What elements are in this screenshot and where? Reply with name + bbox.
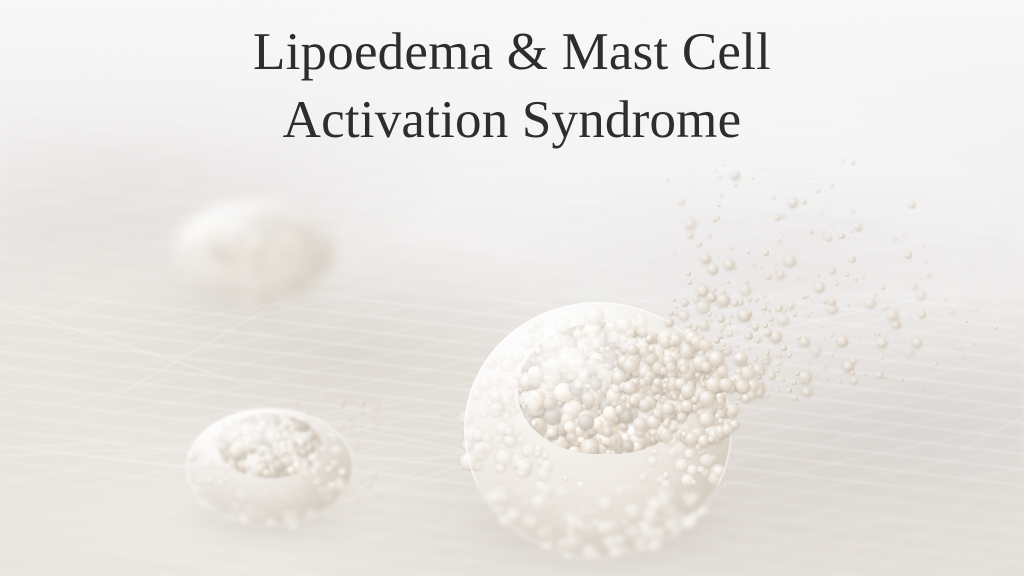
released-granule	[714, 315, 716, 317]
released-granule	[724, 259, 735, 270]
released-granule	[823, 299, 828, 304]
granule	[691, 396, 699, 404]
released-granule	[811, 258, 812, 259]
released-granule	[850, 367, 852, 369]
released-granule	[715, 304, 717, 306]
released-granule	[754, 401, 756, 403]
released-granule	[717, 295, 729, 307]
released-granule	[786, 388, 792, 394]
released-granule	[817, 274, 820, 277]
released-granule	[946, 277, 947, 278]
released-granule	[754, 297, 759, 302]
granule	[623, 359, 638, 374]
released-granule	[838, 233, 844, 239]
released-granule	[887, 310, 898, 321]
released-granule	[717, 315, 725, 323]
released-granule	[707, 234, 711, 238]
released-granule	[668, 310, 674, 316]
released-granule	[768, 372, 776, 380]
released-granule	[851, 209, 855, 213]
released-granule	[795, 229, 796, 230]
released-granule	[844, 272, 849, 277]
released-granule	[822, 326, 824, 328]
released-granule	[728, 314, 733, 319]
released-granule	[857, 345, 859, 347]
released-granule	[760, 371, 764, 375]
released-granule	[824, 200, 827, 203]
released-granule	[846, 304, 850, 308]
released-granule	[752, 323, 760, 331]
released-granule	[852, 161, 855, 164]
released-granule	[813, 373, 818, 378]
released-granule	[713, 219, 716, 222]
released-granule	[845, 282, 846, 283]
released-granule	[765, 273, 772, 280]
granule	[620, 395, 627, 402]
released-granule	[924, 261, 927, 264]
released-granule	[737, 367, 739, 369]
released-granule	[811, 310, 813, 312]
released-granule	[733, 184, 736, 187]
released-granule	[810, 229, 815, 234]
released-granule	[720, 327, 724, 331]
released-granule	[707, 311, 712, 316]
released-granule	[973, 379, 978, 384]
released-granule	[699, 320, 709, 330]
released-granule	[814, 251, 815, 252]
released-granule	[710, 244, 711, 245]
released-granule	[710, 319, 713, 322]
released-granule	[974, 307, 978, 311]
granule	[717, 398, 724, 405]
released-granule	[780, 345, 786, 351]
granule	[655, 394, 662, 401]
released-granule	[908, 201, 916, 209]
released-granule	[778, 239, 782, 243]
released-granule	[754, 207, 755, 208]
released-granule	[774, 270, 777, 273]
slide-title: Lipoedema & Mast Cell Activation Syndrom…	[0, 18, 1024, 154]
released-granule	[911, 297, 913, 299]
released-granule	[874, 332, 876, 334]
released-granule	[747, 297, 752, 302]
released-granule	[774, 263, 777, 266]
granule	[639, 347, 649, 357]
released-granule	[930, 218, 932, 220]
released-granule	[926, 273, 931, 278]
released-granule	[706, 407, 709, 410]
released-granule	[923, 245, 926, 248]
released-granule	[873, 292, 878, 297]
released-granule	[719, 265, 721, 267]
released-granule	[965, 319, 968, 322]
released-granule	[944, 298, 947, 301]
released-granule	[807, 363, 811, 367]
granule	[680, 344, 694, 358]
released-granule	[902, 234, 905, 237]
released-granule	[718, 175, 723, 180]
released-granule	[854, 277, 858, 281]
released-granule	[746, 323, 751, 328]
released-granule	[696, 242, 701, 247]
released-granule	[857, 338, 861, 342]
released-granule	[934, 362, 938, 366]
released-granule	[763, 250, 768, 255]
released-granule	[686, 271, 691, 276]
released-granule	[765, 393, 770, 398]
released-granule	[877, 333, 880, 336]
released-granule	[792, 395, 799, 402]
released-granule	[864, 298, 876, 310]
released-granule	[870, 253, 872, 255]
released-granule	[910, 383, 913, 386]
released-granule	[910, 283, 918, 291]
granule	[722, 424, 733, 435]
released-granule	[780, 324, 783, 327]
released-granule	[850, 371, 855, 376]
released-granule	[793, 312, 797, 316]
released-granule	[774, 345, 775, 346]
released-granule	[786, 357, 789, 360]
released-granule	[762, 315, 764, 317]
released-granule	[812, 178, 814, 180]
granule	[685, 432, 699, 446]
released-granule	[845, 369, 848, 372]
title-line-2: Activation Syndrome	[0, 86, 1024, 154]
granule	[663, 420, 671, 428]
released-granule	[904, 251, 911, 258]
released-granule	[830, 353, 834, 357]
released-granule	[946, 353, 948, 355]
released-granule	[747, 250, 750, 253]
released-granule	[857, 220, 858, 221]
released-granule	[770, 385, 773, 388]
released-granule	[752, 263, 756, 267]
released-granule	[792, 380, 797, 385]
released-granule	[726, 280, 730, 284]
released-granule	[880, 356, 884, 360]
released-granule	[847, 185, 848, 186]
released-granule	[752, 258, 754, 260]
granule	[629, 396, 639, 406]
released-granule	[919, 278, 921, 280]
released-granule	[881, 286, 885, 290]
released-granule	[787, 302, 794, 309]
released-granule	[822, 364, 827, 369]
released-granule	[812, 353, 817, 358]
released-granule	[839, 250, 841, 252]
released-granule	[914, 355, 916, 357]
released-granule	[830, 183, 834, 187]
released-granule	[746, 346, 750, 350]
released-granule	[767, 308, 771, 312]
released-granule	[949, 309, 955, 315]
released-granule	[737, 196, 739, 198]
released-granule	[908, 315, 911, 318]
released-granule	[940, 398, 941, 399]
released-granule	[672, 298, 676, 302]
released-granule	[802, 295, 806, 299]
released-granule	[713, 337, 720, 344]
released-granule	[830, 224, 833, 227]
released-granule	[871, 365, 873, 367]
released-granule	[665, 318, 674, 327]
released-granule	[833, 350, 836, 353]
released-granule	[744, 332, 753, 341]
released-granule	[957, 345, 962, 350]
released-granule	[863, 372, 866, 375]
released-granule	[803, 363, 805, 365]
released-granule	[761, 168, 763, 170]
released-granule	[745, 279, 750, 284]
released-granule	[775, 305, 782, 312]
released-granule	[681, 299, 689, 307]
released-granule	[812, 386, 815, 389]
released-granule	[928, 302, 929, 303]
released-granule	[820, 211, 824, 215]
released-granule	[731, 171, 740, 180]
released-granule	[936, 336, 938, 338]
released-granule	[857, 245, 858, 246]
released-granule	[783, 354, 786, 357]
released-granule	[762, 293, 767, 298]
granule	[666, 362, 676, 372]
released-granule	[731, 299, 739, 307]
released-granule	[952, 346, 956, 350]
released-granule	[722, 164, 725, 167]
released-granule	[813, 169, 815, 171]
granule	[633, 379, 639, 385]
released-granule	[763, 323, 768, 328]
released-granule	[834, 281, 839, 286]
released-granule	[781, 214, 785, 218]
released-granule	[718, 306, 721, 309]
released-granule	[768, 349, 769, 350]
granule	[653, 409, 663, 419]
granule	[646, 335, 653, 342]
released-granule	[802, 387, 812, 397]
released-granule	[796, 336, 801, 341]
released-granule	[726, 321, 731, 326]
released-granule	[674, 311, 678, 315]
granule	[728, 404, 740, 416]
released-granule	[862, 220, 864, 222]
released-granule	[755, 338, 760, 343]
released-granule	[775, 388, 780, 393]
granule	[672, 394, 678, 400]
released-granule	[673, 252, 676, 255]
released-granule	[701, 254, 712, 265]
released-granule	[825, 377, 829, 381]
released-granule	[708, 264, 718, 274]
released-granule	[776, 369, 780, 373]
released-granule	[873, 252, 874, 253]
released-granule	[877, 338, 887, 348]
released-granule	[782, 235, 784, 237]
released-granule	[829, 332, 835, 338]
released-granule	[750, 177, 753, 180]
released-granule	[976, 367, 977, 368]
released-granule	[717, 280, 718, 281]
released-granule	[814, 282, 825, 293]
granule	[701, 362, 711, 372]
released-granule	[687, 233, 692, 238]
released-granule	[788, 197, 798, 207]
released-granule	[973, 341, 977, 345]
released-granule	[821, 230, 825, 234]
granule	[677, 413, 687, 423]
released-granule	[729, 246, 733, 250]
released-granule	[801, 199, 807, 205]
released-granule	[850, 357, 858, 365]
released-granule	[679, 311, 689, 321]
released-granule	[841, 159, 845, 163]
released-granule	[851, 377, 858, 384]
granule	[680, 365, 688, 373]
released-granule	[675, 306, 678, 309]
slide-canvas: Lipoedema & Mast Cell Activation Syndrom…	[0, 0, 1024, 576]
released-granule	[666, 178, 670, 182]
released-granule	[789, 241, 792, 244]
released-granule	[920, 312, 926, 318]
released-granule	[677, 199, 684, 206]
released-granule	[706, 292, 716, 302]
released-granule	[740, 285, 751, 296]
released-granule	[760, 266, 763, 269]
released-granule	[893, 237, 897, 241]
released-granule	[774, 354, 777, 357]
released-granule	[816, 189, 820, 193]
released-granule	[905, 348, 915, 358]
granule	[736, 380, 749, 393]
released-granule	[830, 290, 832, 292]
released-granule	[773, 400, 775, 402]
released-granule	[719, 193, 723, 197]
released-granule	[711, 288, 716, 293]
released-granule	[768, 316, 774, 322]
granule	[717, 365, 729, 377]
released-granule	[777, 363, 780, 366]
released-granule	[960, 354, 966, 360]
released-granule	[993, 325, 998, 330]
granule	[627, 344, 638, 355]
released-granule	[735, 344, 739, 348]
released-granule	[828, 267, 836, 275]
released-granule	[784, 255, 796, 267]
released-granule	[761, 358, 764, 361]
released-granule	[714, 169, 718, 173]
released-granule	[769, 312, 771, 314]
released-granule	[717, 205, 720, 208]
released-granule	[796, 277, 800, 281]
released-granule	[721, 404, 724, 407]
granule	[718, 418, 724, 424]
released-granule	[766, 301, 769, 304]
released-granule	[771, 195, 776, 200]
released-granule	[762, 247, 763, 248]
granule	[659, 428, 673, 442]
released-granule	[805, 315, 809, 319]
released-granule	[799, 337, 810, 348]
granule	[742, 394, 750, 402]
released-granule	[835, 345, 839, 349]
released-granule	[838, 380, 841, 383]
granule	[639, 399, 651, 411]
released-granule	[823, 336, 826, 339]
title-line-1: Lipoedema & Mast Cell	[0, 18, 1024, 86]
released-granule	[899, 378, 904, 383]
released-granule	[912, 338, 922, 348]
released-granule	[799, 168, 801, 170]
released-granule	[718, 255, 720, 257]
released-granule	[920, 388, 923, 391]
released-granule	[772, 323, 774, 325]
released-granule	[886, 328, 888, 330]
released-granule	[753, 357, 759, 363]
released-granule	[837, 336, 848, 347]
released-granule	[811, 299, 813, 301]
granule	[681, 384, 695, 398]
released-granule	[727, 331, 733, 337]
released-granule	[693, 296, 700, 303]
granule	[699, 339, 712, 352]
released-granule	[920, 165, 921, 166]
released-granule	[747, 311, 751, 315]
released-granule	[722, 283, 724, 285]
released-granule	[889, 278, 890, 279]
granule	[662, 403, 674, 415]
released-granule	[838, 287, 839, 288]
released-granule	[737, 330, 739, 332]
granule	[615, 405, 625, 415]
released-granule	[861, 275, 864, 278]
granule	[699, 412, 715, 428]
granule	[663, 383, 669, 389]
released-granule	[684, 263, 686, 265]
released-granule	[860, 375, 862, 377]
granule	[699, 391, 715, 407]
released-granule	[679, 329, 680, 330]
released-granule	[687, 280, 692, 285]
released-granule	[849, 229, 853, 233]
released-granule	[854, 223, 863, 232]
released-granule	[917, 291, 926, 300]
released-granule	[881, 304, 888, 311]
released-granule	[685, 218, 697, 230]
